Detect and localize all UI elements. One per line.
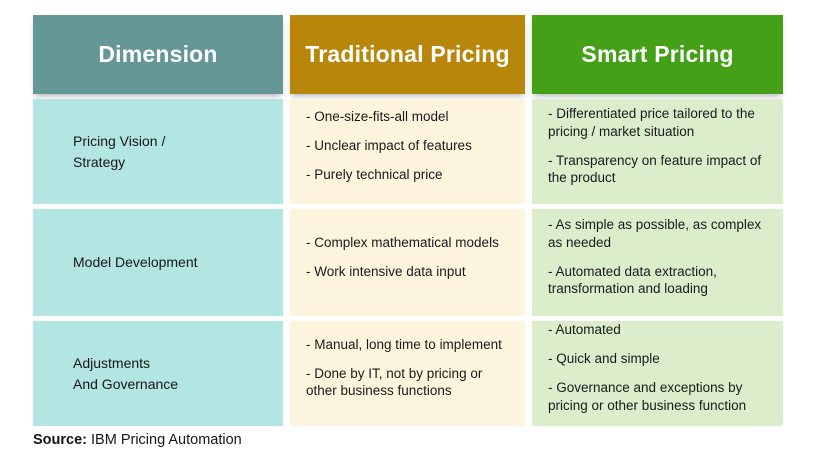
table-cell-traditional-row2: - Complex mathematical models - Work int… <box>290 209 525 316</box>
table-cell-smart-row2: - As simple as possible, as complex as n… <box>532 209 783 316</box>
list-item: - Transparency on feature impact of the … <box>548 152 767 188</box>
header-label-traditional-pricing: Traditional Pricing <box>305 41 509 67</box>
bullet-list: - Automated - Quick and simple - Governa… <box>548 321 767 425</box>
source-caption: Source: IBM Pricing Automation <box>33 432 242 448</box>
bullet-list: - Complex mathematical models - Work int… <box>306 234 509 292</box>
list-item: - Unclear impact of features <box>306 137 509 155</box>
bullet-list: - One-size-fits-all model - Unclear impa… <box>306 108 509 194</box>
dimension-label-line-1: Adjustments <box>73 353 267 373</box>
header-label-smart-pricing: Smart Pricing <box>581 41 733 67</box>
bullet-list: - As simple as possible, as complex as n… <box>548 216 767 309</box>
dimension-label: Model Development <box>73 252 267 272</box>
bullet-list: - Manual, long time to implement - Done … <box>306 336 509 411</box>
list-item: - Work intensive data input <box>306 263 509 281</box>
bullet-list: - Differentiated price tailored to the p… <box>548 105 767 198</box>
list-item: - Done by IT, not by pricing or other bu… <box>306 365 509 401</box>
list-item: - As simple as possible, as complex as n… <box>548 216 767 252</box>
table-row: Model Development <box>33 209 283 316</box>
header-cell-traditional-pricing: Traditional Pricing <box>290 15 525 94</box>
dimension-label: Adjustments And Governance <box>73 353 267 394</box>
list-item: - Quick and simple <box>548 350 767 368</box>
list-item: - Automated data extraction, transformat… <box>548 263 767 299</box>
header-cell-dimension: Dimension <box>33 15 283 94</box>
dimension-label: Pricing Vision / Strategy <box>73 131 267 172</box>
list-item: - Purely technical price <box>306 166 509 184</box>
table-cell-traditional-row3: - Manual, long time to implement - Done … <box>290 321 525 426</box>
dimension-label-line-1: Pricing Vision / <box>73 131 267 151</box>
table-cell-smart-row3: - Automated - Quick and simple - Governa… <box>532 321 783 426</box>
source-value: IBM Pricing Automation <box>87 432 242 448</box>
dimension-label-line-2: And Governance <box>73 374 267 394</box>
comparison-table: Dimension Traditional Pricing Smart Pric… <box>33 15 783 426</box>
dimension-label-line-1: Model Development <box>73 252 267 272</box>
list-item: - Governance and exceptions by pricing o… <box>548 379 767 415</box>
header-label-dimension: Dimension <box>98 41 217 67</box>
list-item: - Differentiated price tailored to the p… <box>548 105 767 141</box>
list-item: - One-size-fits-all model <box>306 108 509 126</box>
list-item: - Manual, long time to implement <box>306 336 509 354</box>
source-label: Source: <box>33 432 87 448</box>
dimension-label-line-2: Strategy <box>73 152 267 172</box>
table-cell-traditional-row1: - One-size-fits-all model - Unclear impa… <box>290 99 525 204</box>
table-row: Pricing Vision / Strategy <box>33 99 283 204</box>
list-item: - Complex mathematical models <box>306 234 509 252</box>
list-item: - Automated <box>548 321 767 339</box>
header-cell-smart-pricing: Smart Pricing <box>532 15 783 94</box>
table-row: Adjustments And Governance <box>33 321 283 426</box>
table-cell-smart-row1: - Differentiated price tailored to the p… <box>532 99 783 204</box>
slide-canvas: Dimension Traditional Pricing Smart Pric… <box>0 0 825 468</box>
